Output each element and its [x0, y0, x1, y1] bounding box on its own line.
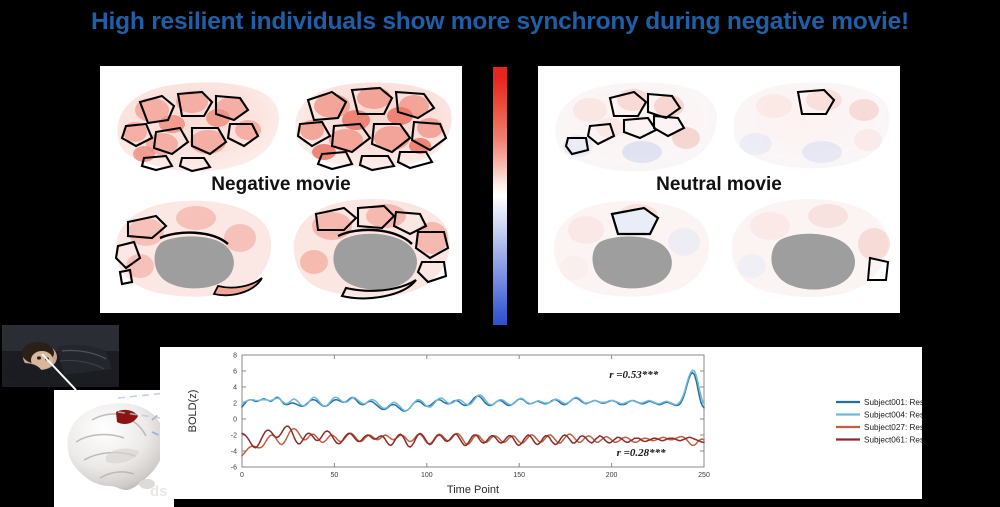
svg-text:250: 250	[698, 472, 710, 479]
svg-text:0: 0	[233, 417, 237, 424]
svg-text:Subject061: Resilience score=2: Subject061: Resilience score=22 (Low)	[864, 436, 922, 445]
svg-text:-6: -6	[231, 465, 237, 472]
svg-text:Subject001: Resilience score=1: Subject001: Resilience score=100 (High)	[864, 398, 922, 407]
svg-text:200: 200	[606, 472, 618, 479]
bold-timeseries-chart: 050100150200250-6-4-202468 r =0.53***r =…	[160, 347, 922, 499]
brain-surface-neutral	[538, 66, 900, 313]
partial-caption-text: ds	[150, 483, 168, 500]
svg-text:6: 6	[233, 369, 237, 376]
brain-view-right-lateral	[734, 82, 890, 168]
svg-text:2: 2	[233, 401, 237, 408]
svg-text:-2: -2	[231, 433, 237, 440]
svg-text:8: 8	[233, 353, 237, 360]
brain-view-right-lateral	[296, 82, 452, 170]
y-axis-label: BOLD(z)	[187, 390, 199, 433]
brain-view-left-lateral	[555, 82, 717, 171]
svg-text:r =0.53***: r =0.53***	[609, 369, 659, 381]
pointer-line	[42, 354, 76, 390]
brain-view-right-medial	[732, 199, 890, 297]
svg-text:50: 50	[331, 472, 339, 479]
svg-text:Subject027: Resilience score=2: Subject027: Resilience score=28(Low)	[864, 423, 922, 432]
brain-view-left-lateral	[117, 82, 279, 171]
brain-view-right-medial	[294, 199, 450, 298]
x-axis-label: Time Point	[447, 484, 499, 496]
svg-text:0: 0	[240, 472, 244, 479]
brain-panel-negative: Negative movie	[100, 66, 462, 313]
svg-text:Subject004: Resilience score=9: Subject004: Resilience score=93 (High)	[864, 411, 922, 420]
brain-view-left-medial	[116, 201, 271, 297]
brain-surface-negative	[100, 66, 462, 313]
svg-text:-4: -4	[231, 449, 237, 456]
brain-view-left-medial	[554, 201, 709, 297]
svg-text:r =0.28***: r =0.28***	[617, 447, 667, 459]
brain-panel-neutral: Neutral movie	[538, 66, 900, 313]
svg-text:4: 4	[233, 385, 237, 392]
svg-text:150: 150	[513, 472, 525, 479]
slide-title: High resilient individuals show more syn…	[0, 8, 1000, 36]
chart-svg: 050100150200250-6-4-202468 r =0.53***r =…	[160, 347, 922, 499]
slide-root: High resilient individuals show more syn…	[0, 0, 1000, 507]
colorbar	[493, 67, 507, 325]
svg-text:100: 100	[421, 472, 433, 479]
